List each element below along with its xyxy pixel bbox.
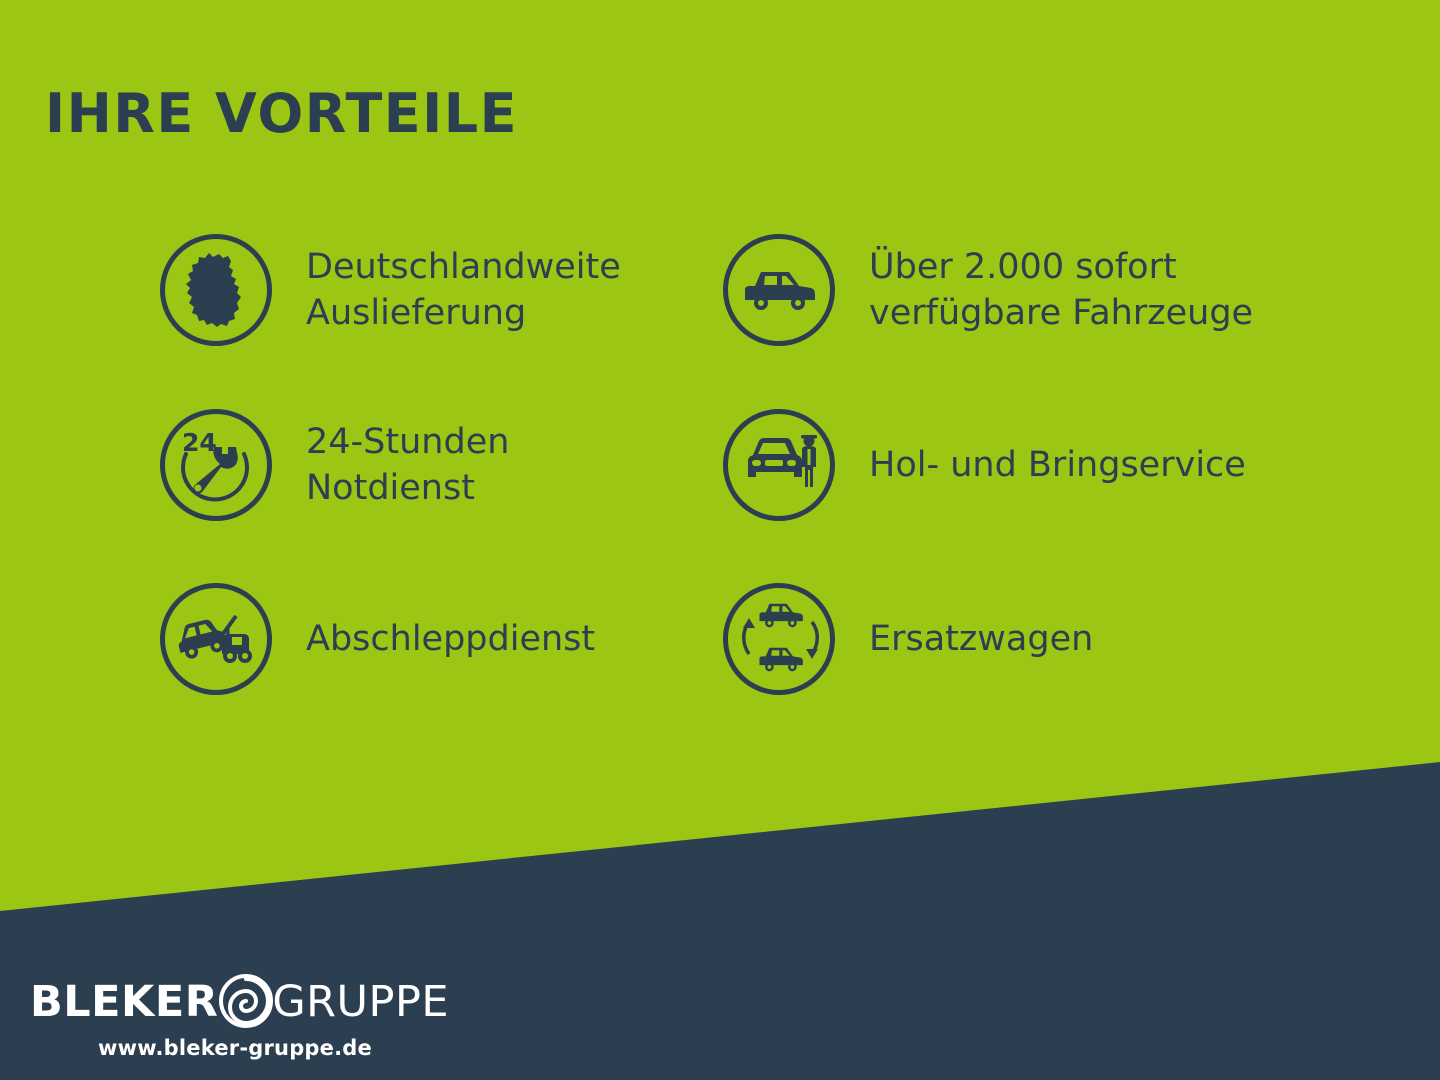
logo-wordmark-gruppe: GRUPPE — [272, 981, 449, 1024]
benefit-item-abschleppdienst: Abschleppdienst — [160, 583, 595, 695]
two-cars-exchange-icon — [723, 583, 835, 695]
footer-logo-block: BLEKER GRUPPE www.bleker-gruppe.de — [30, 974, 430, 1060]
logo-row: BLEKER GRUPPE — [30, 974, 430, 1030]
germany-map-icon — [160, 234, 272, 346]
logo-url: www.bleker-gruppe.de — [30, 1036, 430, 1060]
tow-truck-icon — [160, 583, 272, 695]
benefit-item-24-stunden-notdienst: 24 24-Stunden Notdienst — [160, 409, 509, 521]
benefits-list: Deutschlandweite Auslieferung Über 2.000… — [0, 0, 1440, 760]
benefit-label: Über 2.000 sofort verfügbare Fahrzeuge — [869, 244, 1253, 336]
spiral-icon — [216, 970, 276, 1034]
car-side-icon — [723, 234, 835, 346]
benefit-item-ersatzwagen: Ersatzwagen — [723, 583, 1093, 695]
logo-wordmark-bleker: BLEKER — [30, 981, 218, 1024]
benefit-item-deutschlandweite-auslieferung: Deutschlandweite Auslieferung — [160, 234, 621, 346]
24-hour-wrench-icon: 24 — [160, 409, 272, 521]
benefit-label: Deutschlandweite Auslieferung — [306, 244, 621, 336]
slide-root: IHRE VORTEILE Deutschlandweite Ausliefer… — [0, 0, 1440, 1080]
benefit-label: 24-Stunden Notdienst — [306, 419, 509, 511]
benefit-label: Ersatzwagen — [869, 616, 1093, 662]
car-with-driver-icon — [723, 409, 835, 521]
benefit-item-verfuegbare-fahrzeuge: Über 2.000 sofort verfügbare Fahrzeuge — [723, 234, 1253, 346]
benefit-label: Abschleppdienst — [306, 616, 595, 662]
benefit-label: Hol- und Bringservice — [869, 442, 1246, 488]
benefit-item-hol-und-bringservice: Hol- und Bringservice — [723, 409, 1246, 521]
